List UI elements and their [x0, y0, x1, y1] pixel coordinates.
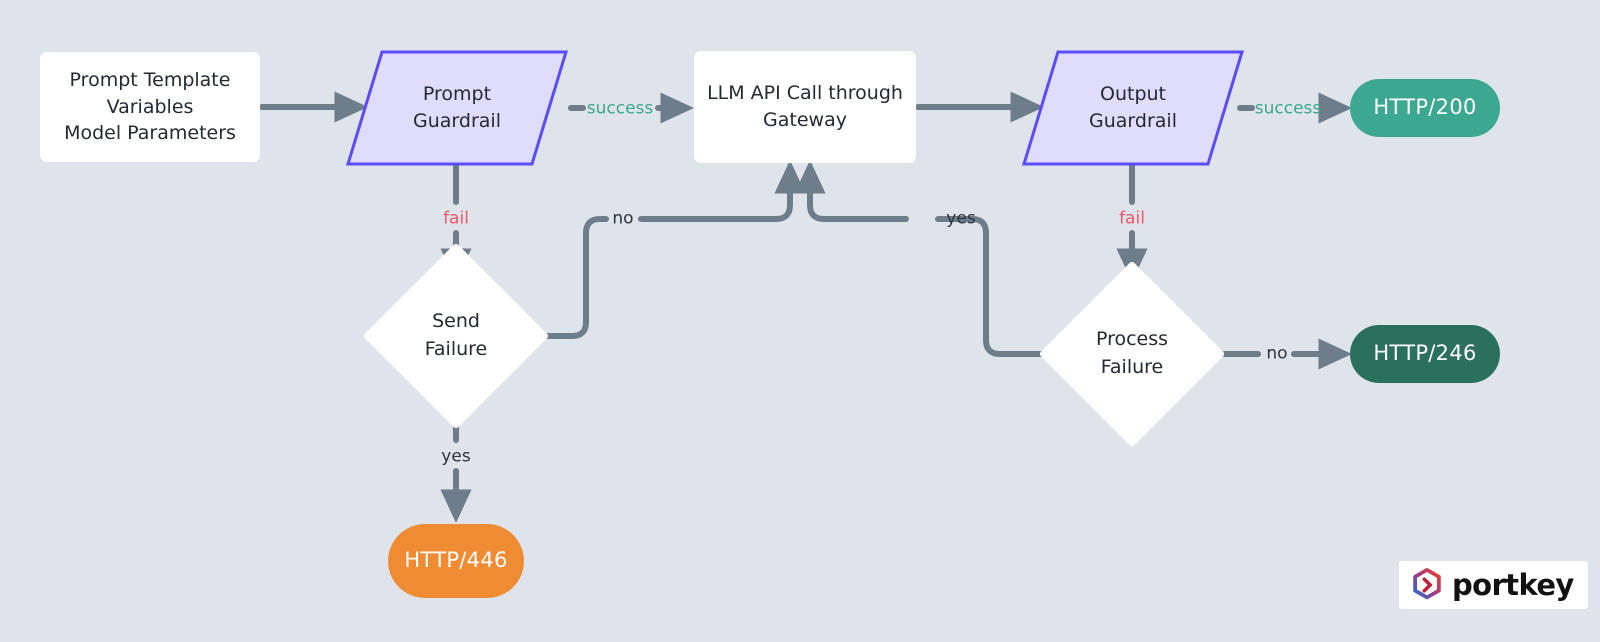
- flowchart-canvas: Prompt Template Variables Model Paramete…: [0, 0, 1600, 642]
- node-process-failure[interactable]: Process Failure: [1066, 288, 1198, 420]
- portkey-logo: portkey: [1399, 561, 1588, 609]
- edge-label-prompt-success: success: [587, 101, 654, 118]
- edge-label-processfailure-yes: yes: [946, 211, 975, 228]
- node-prompt-guardrail-label: Prompt Guardrail: [346, 50, 568, 166]
- edge-label-output-success: success: [1255, 101, 1322, 118]
- node-http-246-label: HTTP/246: [1373, 339, 1476, 369]
- edge-label-prompt-fail: fail: [443, 211, 469, 228]
- portkey-hexagon-chevron-icon: [1409, 567, 1445, 603]
- node-input-label: Prompt Template Variables Model Paramete…: [64, 67, 236, 148]
- node-input[interactable]: Prompt Template Variables Model Paramete…: [40, 52, 260, 162]
- node-prompt-guardrail[interactable]: Prompt Guardrail: [346, 50, 568, 166]
- node-http-446-label: HTTP/446: [404, 546, 507, 576]
- node-http-200[interactable]: HTTP/200: [1350, 79, 1500, 137]
- node-http-246[interactable]: HTTP/246: [1350, 325, 1500, 383]
- edge-sendfailure-no-a: [528, 219, 606, 336]
- edge-sendfailure-no-b: [641, 172, 790, 219]
- edge-label-sendfailure-no: no: [612, 211, 633, 228]
- edge-label-sendfailure-yes: yes: [441, 449, 470, 466]
- node-output-guardrail-label: Output Guardrail: [1022, 50, 1244, 166]
- node-llm-call[interactable]: LLM API Call through Gateway: [694, 51, 916, 163]
- node-http-446[interactable]: HTTP/446: [388, 524, 524, 598]
- node-send-failure-label: Send Failure: [390, 270, 522, 402]
- node-http-200-label: HTTP/200: [1373, 93, 1476, 123]
- node-output-guardrail[interactable]: Output Guardrail: [1022, 50, 1244, 166]
- edge-label-processfailure-no: no: [1266, 346, 1287, 363]
- portkey-logo-text: portkey: [1452, 568, 1574, 602]
- edge-processfailure-yes-a: [938, 219, 1042, 354]
- edge-processfailure-yes-b: [810, 172, 906, 219]
- node-process-failure-label: Process Failure: [1066, 288, 1198, 420]
- node-send-failure[interactable]: Send Failure: [390, 270, 522, 402]
- edge-label-output-fail: fail: [1119, 211, 1145, 228]
- node-llm-call-label: LLM API Call through Gateway: [707, 80, 903, 134]
